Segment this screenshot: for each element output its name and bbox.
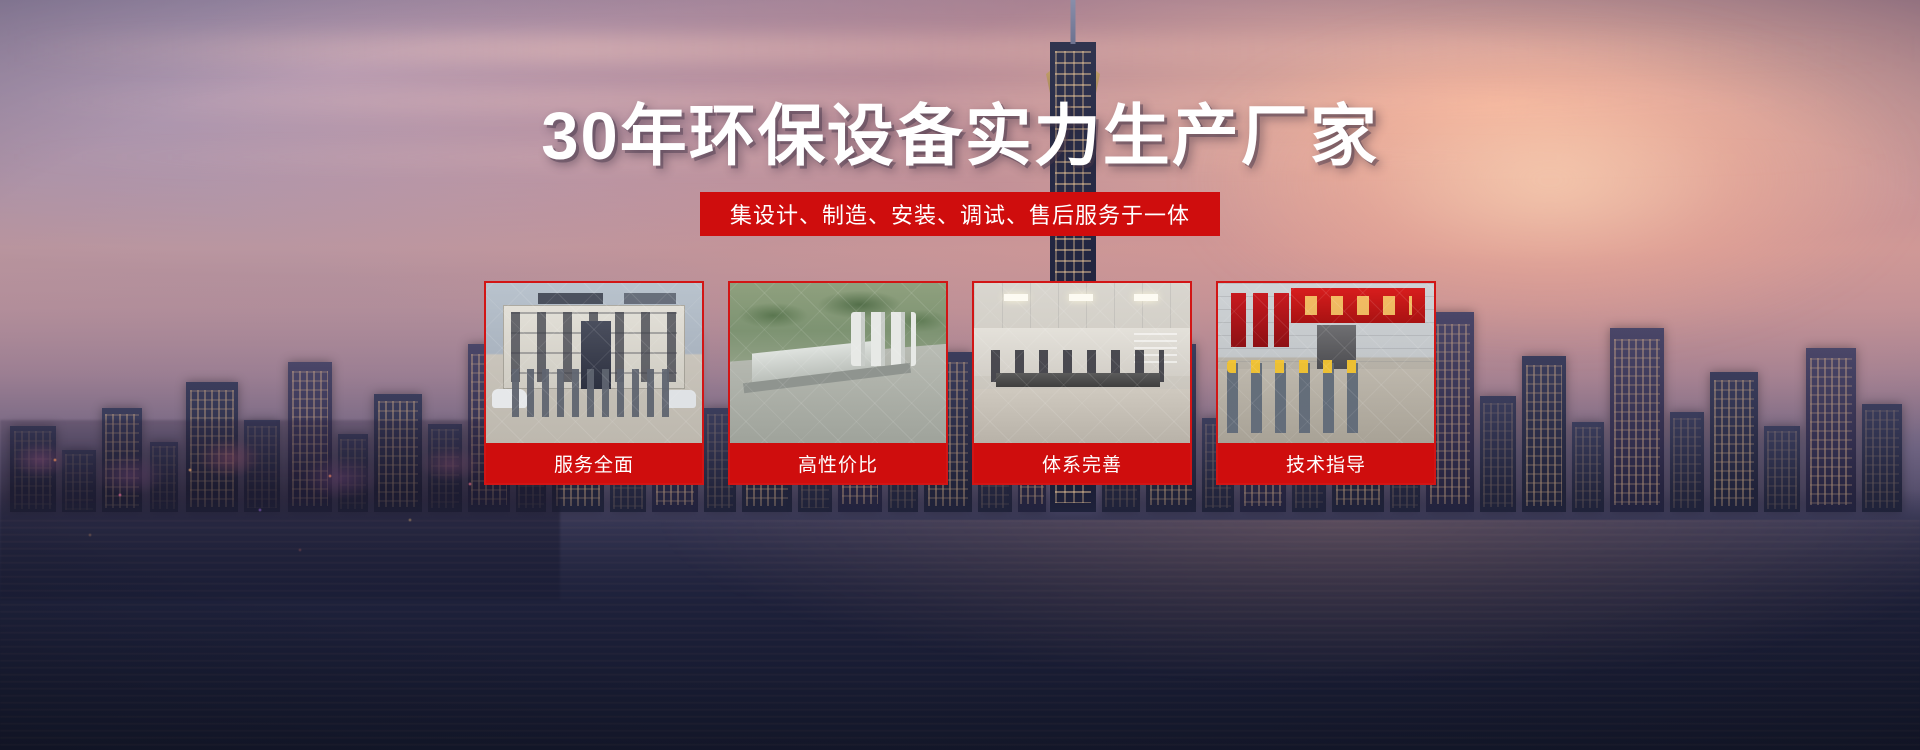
feature-card-caption: 高性价比 xyxy=(730,443,946,483)
banner-headline: 30年环保设备实力生产厂家 xyxy=(0,103,1920,170)
feature-card-caption: 技术指导 xyxy=(1218,443,1434,483)
workshop-workers-photo xyxy=(1218,283,1434,443)
hero-banner: 30年环保设备实力生产厂家 集设计、制造、安装、调试、售后服务于一体 服务全面 xyxy=(0,0,1920,750)
office-building-staff-photo xyxy=(486,283,702,443)
office-interior-meeting-photo xyxy=(974,283,1190,443)
feature-card[interactable]: 技术指导 xyxy=(1216,281,1436,485)
feature-card-list: 服务全面 高性价比 xyxy=(484,281,1436,485)
feature-card-caption: 体系完善 xyxy=(974,443,1190,483)
feature-card[interactable]: 高性价比 xyxy=(728,281,948,485)
industrial-plant-aerial-photo xyxy=(730,283,946,443)
feature-card-caption: 服务全面 xyxy=(486,443,702,483)
subtitle-text: 集设计、制造、安装、调试、售后服务于一体 xyxy=(730,198,1190,230)
banner-content: 30年环保设备实力生产厂家 集设计、制造、安装、调试、售后服务于一体 服务全面 xyxy=(0,0,1920,750)
subtitle-banner: 集设计、制造、安装、调试、售后服务于一体 xyxy=(700,192,1220,236)
feature-card[interactable]: 服务全面 xyxy=(484,281,704,485)
feature-card[interactable]: 体系完善 xyxy=(972,281,1192,485)
